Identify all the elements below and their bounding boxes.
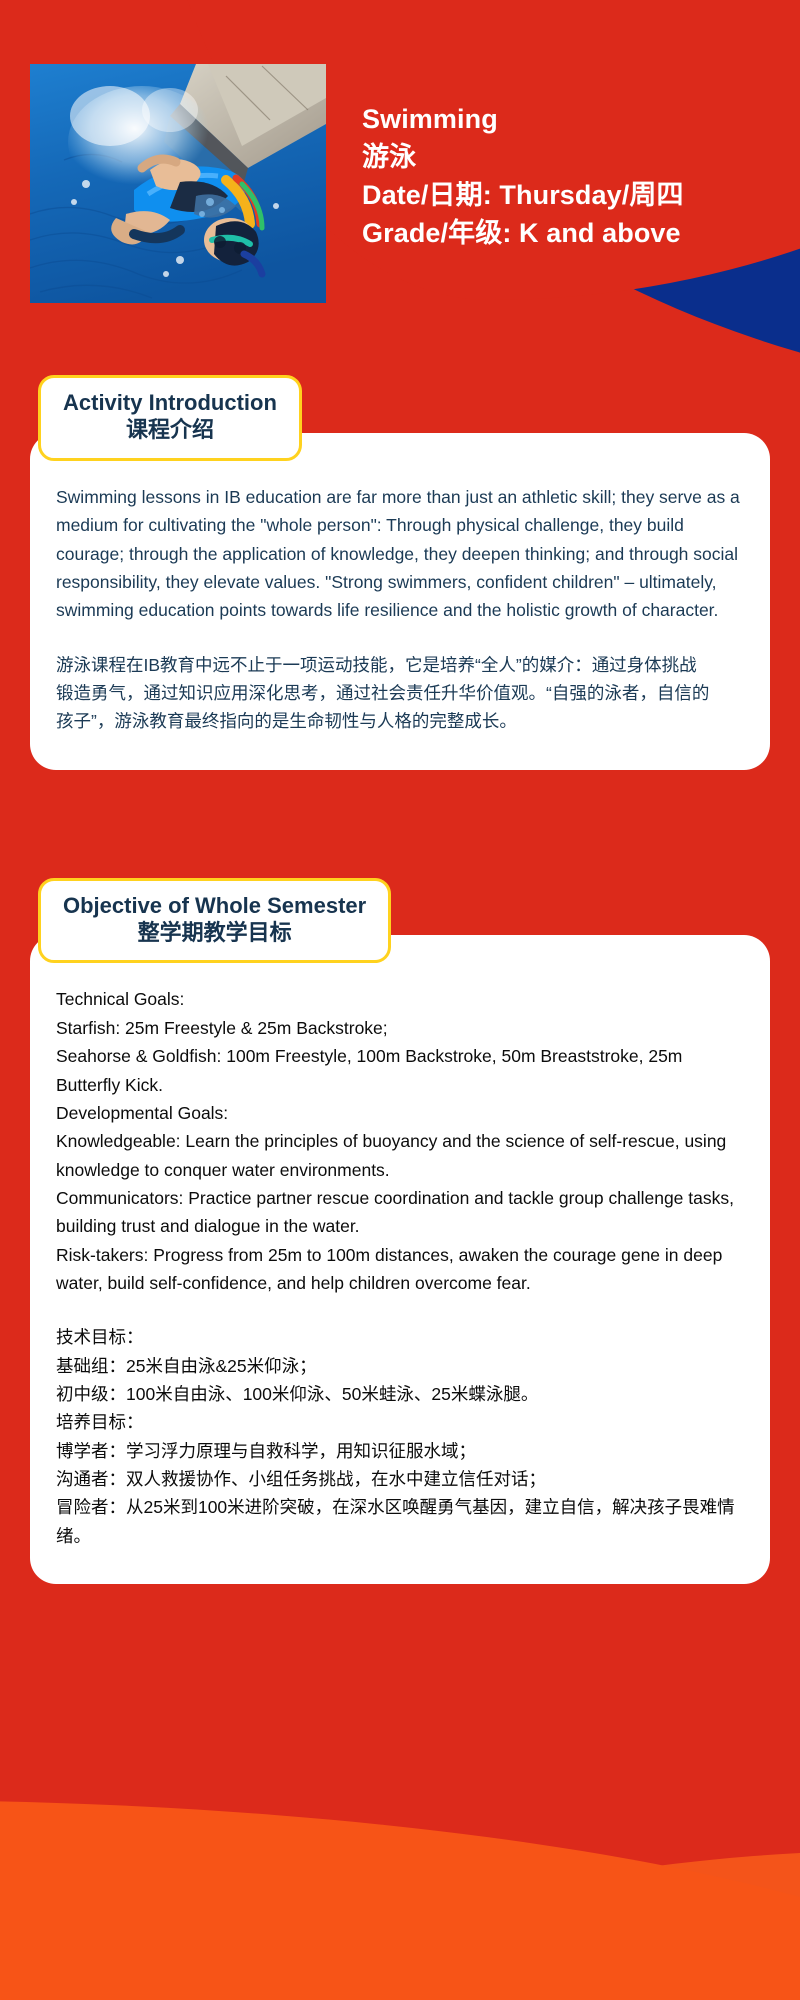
section-1-body-en: Swimming lessons in IB education are far… [56,483,744,625]
section-2-title-en: Objective of Whole Semester [63,892,366,919]
section-1-title-zh: 课程介绍 [63,416,277,445]
hero-text-block: Swimming 游泳 Date/日期: Thursday/周四 Grade/年… [326,64,684,252]
section-activity-introduction: Activity Introduction 课程介绍 Swimming less… [30,375,770,770]
section-2-body-zh: 技术目标： 基础组：25米自由泳&25米仰泳； 初中级：100米自由泳、100米… [56,1323,744,1550]
section-2-body: Technical Goals: Starfish: 25m Freestyle… [30,935,770,1584]
section-1-body-zh: 游泳课程在IB教育中远不止于一项运动技能，它是培养“全人”的媒介：通过身体挑战 … [56,651,744,736]
paragraph-gap [56,625,744,651]
paragraph-gap [56,1297,744,1323]
poster-page: Swimming 游泳 Date/日期: Thursday/周四 Grade/年… [0,0,800,2000]
section-1-body: Swimming lessons in IB education are far… [30,433,770,770]
hero-grade: Grade/年级: K and above [362,214,684,252]
section-1-title-en: Activity Introduction [63,389,277,416]
hero-date: Date/日期: Thursday/周四 [362,176,684,214]
section-2-body-en: Technical Goals: Starfish: 25m Freestyle… [56,985,744,1297]
section-2-tab: Objective of Whole Semester 整学期教学目标 [38,878,391,964]
section-objective-whole-semester: Objective of Whole Semester 整学期教学目标 Tech… [30,878,770,1584]
hero-title-zh: 游泳 [362,138,684,176]
hero-section: Swimming 游泳 Date/日期: Thursday/周四 Grade/年… [0,0,800,303]
hero-title-en: Swimming [362,100,684,138]
swimming-photo [30,64,326,303]
section-2-title-zh: 整学期教学目标 [63,919,366,948]
section-1-tab: Activity Introduction 课程介绍 [38,375,302,461]
